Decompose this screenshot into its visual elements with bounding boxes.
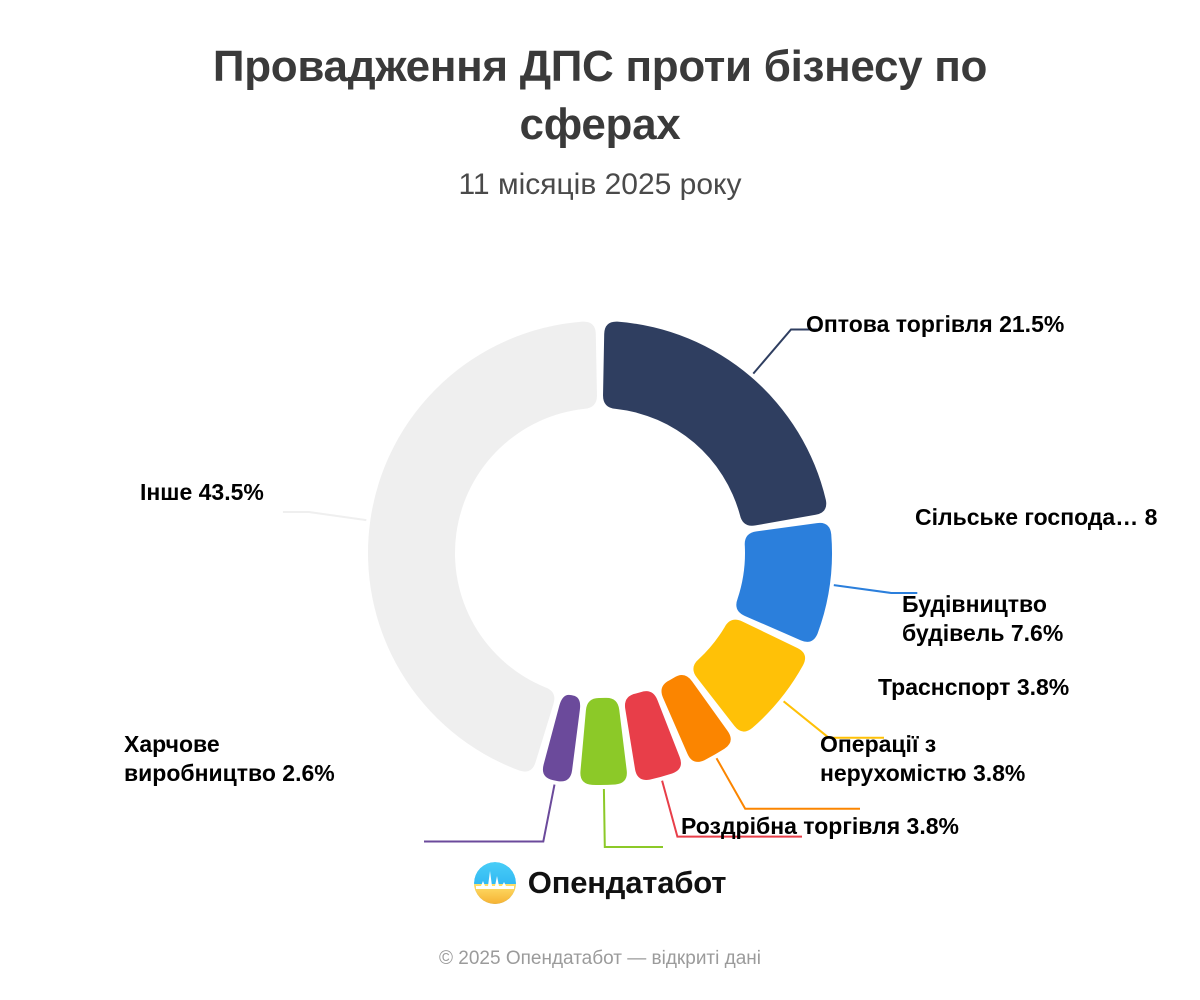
callout-label-kharchove-vyrobnytstvo[interactable]: Харчове виробництво 2.6% [124,730,335,789]
callout-label-optova-torhivlia[interactable]: Оптова торгівля 21.5% [806,310,1064,339]
brand-lockup: Опендатабот [0,862,1200,904]
callout-label-transport[interactable]: Траснспорт 3.8% [878,673,1069,702]
callout-label-budivnytstvo-budivel[interactable]: Будівництво будівель 7.6% [902,590,1063,649]
footer-copyright: © 2025 Опендатабот — відкриті дані [0,948,1200,970]
donut-slice-silske-hospodarstvo[interactable] [736,523,832,642]
leader-line-kharchove-vyrobnytstvo [424,785,555,842]
brand-name: Опендатабот [528,865,726,901]
callout-label-operatsii-z-nerukhomistiu[interactable]: Операції з нерухомістю 3.8% [820,730,1025,789]
donut-slices-group [368,322,832,785]
opendatabot-logo-icon [474,862,516,904]
chart-page: Провадження ДПС проти бізнесу по сферах … [0,0,1200,1000]
callout-label-silske-hospodarstvo[interactable]: Сільське господа… 8 [915,503,1157,532]
callout-label-inshe[interactable]: Інше 43.5% [140,478,264,507]
leader-line-inshe [283,512,366,520]
donut-slice-optova-torhivlia[interactable] [603,322,826,526]
donut-slice-rozdribna-torhivlia[interactable] [580,698,627,785]
leader-line-rozdribna-torhivlia [604,789,663,847]
callout-label-rozdribna-torhivlia[interactable]: Роздрібна торгівля 3.8% [681,812,959,841]
